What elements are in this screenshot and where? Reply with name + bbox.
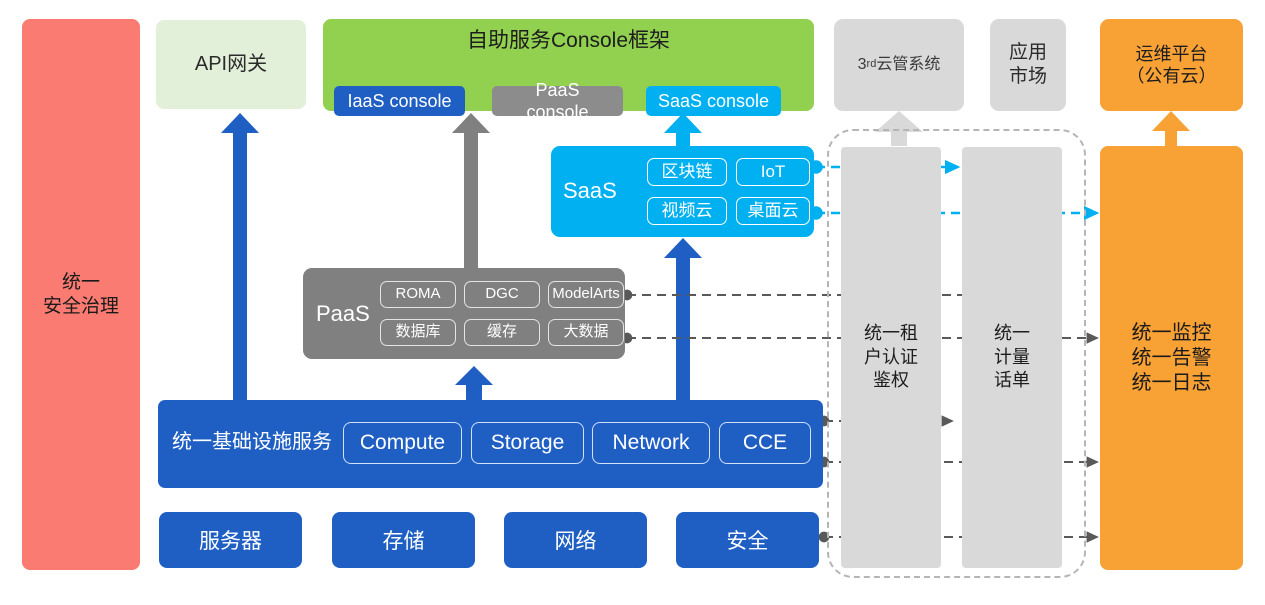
paas-chip-roma[interactable]: ROMA [380,281,456,308]
saas-chip-iot[interactable]: IoT [736,158,810,186]
arrow-paas-to-console [452,113,490,268]
paas-console-chip[interactable]: PaaS console [492,86,623,116]
hardware-box-security[interactable]: 安全 [676,512,819,568]
saas-console-chip[interactable]: SaaS console [646,86,781,116]
saas-chip-desktop-cloud[interactable]: 桌面云 [736,197,810,225]
arrow-iaas-to-api-gateway [221,113,259,400]
saas-chip-video-cloud[interactable]: 视频云 [647,197,727,225]
arrow-ops-pillar-to-platform [1152,111,1190,146]
iaas-chip-compute[interactable]: Compute [343,422,462,464]
hardware-box-server[interactable]: 服务器 [159,512,302,568]
hardware-box-network[interactable]: 网络 [504,512,647,568]
paas-chip-bigdata[interactable]: 大数据 [548,319,624,346]
ops-platform-public-cloud-box[interactable]: 运维平台 （公有云） [1100,19,1243,111]
api-gateway-box[interactable]: API网关 [156,20,306,109]
shared-service-unified-metering[interactable]: 统一 计量 话单 [962,147,1062,568]
iaas-chip-network[interactable]: Network [592,422,710,464]
paas-chip-dgc[interactable]: DGC [464,281,540,308]
iaas-console-chip[interactable]: IaaS console [334,86,465,116]
paas-chip-database[interactable]: 数据库 [380,319,456,346]
third-party-cloud-management-box[interactable]: 3rd云管系统 [834,19,964,111]
shared-service-unified-tenant-auth[interactable]: 统一租 户认证 鉴权 [841,147,941,568]
third-cloud-suffix: 云管系统 [876,55,940,75]
architecture-diagram: 统一租 户认证 鉴权 统一 计量 话单 统一 安全治理 API网关 自助服务Co… [0,0,1265,605]
iaas-chip-cce[interactable]: CCE [719,422,811,464]
saas-chip-blockchain[interactable]: 区块链 [647,158,727,186]
iaas-chip-storage[interactable]: Storage [471,422,584,464]
arrow-iaas-to-saas [664,238,702,400]
arrow-saas-to-console [664,113,702,146]
iaas-bar-label: 统一基础设施服务 [172,430,332,455]
arrow-iaas-to-paas [455,366,493,400]
third-cloud-prefix: 3 [858,55,867,75]
app-market-box[interactable]: 应用 市场 [990,19,1066,111]
paas-layer[interactable]: PaaS ROMA DGC ModelArts 数据库 缓存 大数据 [303,268,625,359]
paas-layer-label: PaaS [316,300,370,328]
hardware-box-storage[interactable]: 存储 [332,512,475,568]
unified-monitoring-alarm-log-pillar[interactable]: 统一监控 统一告警 统一日志 [1100,146,1243,570]
unified-security-governance-pillar[interactable]: 统一 安全治理 [22,19,140,570]
unified-infrastructure-service-bar[interactable]: 统一基础设施服务 Compute Storage Network CCE [158,400,823,488]
saas-layer-label: SaaS [563,177,617,205]
paas-chip-modelarts[interactable]: ModelArts [548,281,624,308]
paas-chip-cache[interactable]: 缓存 [464,319,540,346]
saas-layer[interactable]: SaaS 区块链 IoT 视频云 桌面云 [551,146,814,237]
console-framework-title: 自助服务Console框架 [323,28,814,54]
self-service-console-framework[interactable]: 自助服务Console框架 IaaS console PaaS console … [323,19,814,111]
third-cloud-superscript: rd [867,58,877,72]
